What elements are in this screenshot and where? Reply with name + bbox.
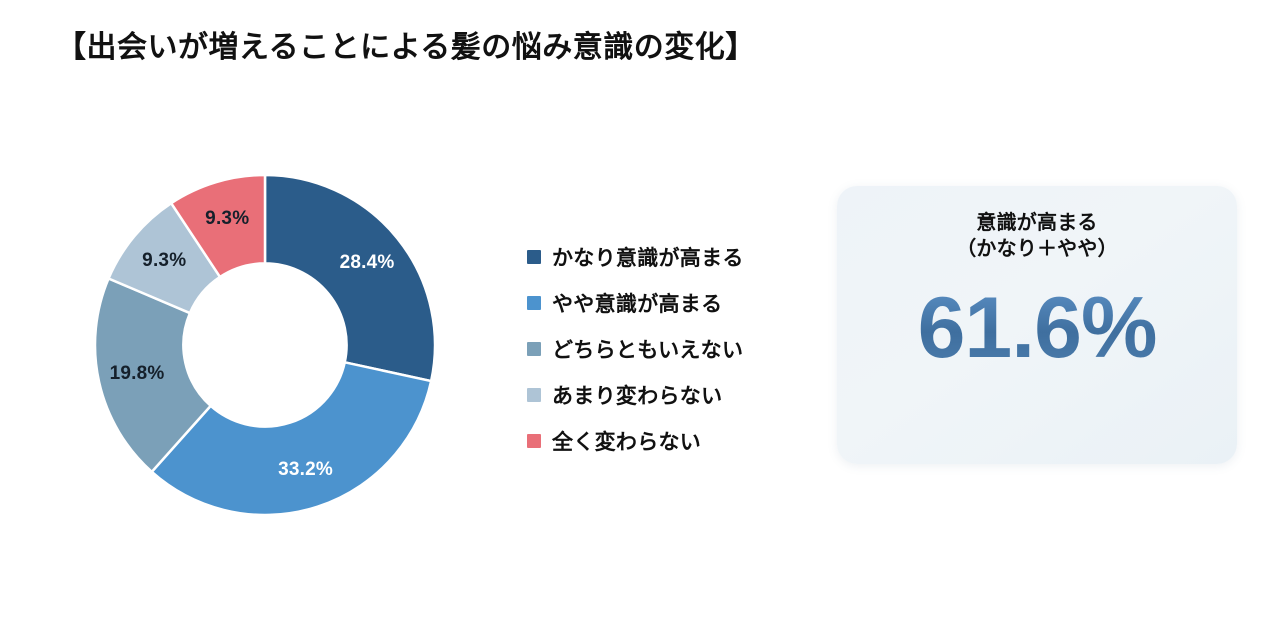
legend-item[interactable]: かなり意識が高まる <box>527 234 807 280</box>
legend-item[interactable]: どちらともいえない <box>527 326 807 372</box>
legend-item[interactable]: 全く変わらない <box>527 418 807 464</box>
donut-slice-label: 9.3% <box>142 250 186 272</box>
donut-chart-svg <box>92 172 438 518</box>
highlight-card-caption: 意識が高まる （かなり＋やや） <box>956 210 1118 263</box>
legend-item[interactable]: やや意識が高まる <box>527 280 807 326</box>
donut-slice-label: 28.4% <box>340 252 395 274</box>
legend-item-label: かなり意識が高まる <box>552 242 744 272</box>
highlight-card-caption-line1: 意識が高まる <box>976 212 1097 234</box>
legend-swatch-icon <box>527 388 541 402</box>
donut-slice-label: 9.3% <box>205 208 249 230</box>
donut-slice-group <box>95 175 435 515</box>
highlight-card: 意識が高まる （かなり＋やや） 61.6% <box>837 186 1237 464</box>
legend-swatch-icon <box>527 342 541 356</box>
donut-chart: 28.4%33.2%19.8%9.3%9.3% <box>92 104 438 590</box>
legend-swatch-icon <box>527 296 541 310</box>
legend-item[interactable]: あまり変わらない <box>527 372 807 418</box>
donut-slice-label: 19.8% <box>110 363 165 385</box>
chart-legend: かなり意識が高まるやや意識が高まるどちらともいえないあまり変わらない全く変わらな… <box>527 234 807 464</box>
highlight-card-value: 61.6% <box>918 285 1157 371</box>
highlight-card-caption-line2: （かなり＋やや） <box>956 236 1118 262</box>
legend-swatch-icon <box>527 434 541 448</box>
legend-item-label: あまり変わらない <box>552 380 722 410</box>
donut-slice[interactable] <box>265 175 435 381</box>
legend-item-label: 全く変わらない <box>552 426 701 456</box>
page-title: 【出会いが増えることによる髪の悩み意識の変化】 <box>56 22 756 66</box>
legend-item-label: どちらともいえない <box>552 334 743 364</box>
legend-item-label: やや意識が高まる <box>552 288 722 318</box>
donut-slice-label: 33.2% <box>278 459 333 481</box>
legend-swatch-icon <box>527 250 541 264</box>
